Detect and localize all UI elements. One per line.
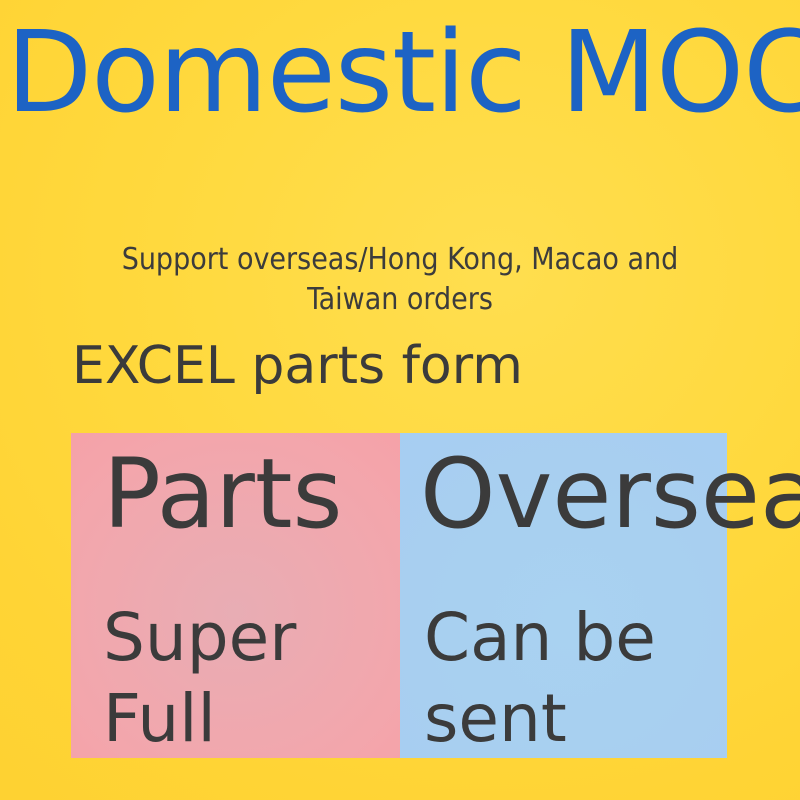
excel-parts-form-label: EXCEL parts form bbox=[72, 337, 523, 397]
panel-parts-title: Parts bbox=[103, 446, 343, 542]
panel-overseas-body-line-2: sent bbox=[424, 679, 656, 760]
panel-overseas-body-line-1: Can be bbox=[424, 598, 656, 679]
panel-parts: Parts Super Full bbox=[71, 433, 400, 758]
panel-parts-body-line-1: Super bbox=[103, 598, 296, 679]
panel-overseas: Overseas Can be sent bbox=[400, 433, 727, 758]
panel-overseas-title: Overseas bbox=[420, 446, 800, 542]
subtitle-line-1: Support overseas/Hong Kong, Macao and bbox=[0, 240, 800, 280]
comparison-panels: Parts Super Full Overseas Can be sent bbox=[71, 433, 727, 758]
subtitle-line-2: Taiwan orders bbox=[0, 280, 800, 320]
panel-overseas-body: Can be sent bbox=[424, 598, 656, 759]
promo-poster: Domestic MOC Support overseas/Hong Kong,… bbox=[0, 0, 800, 800]
subtitle-caption: Support overseas/Hong Kong, Macao and Ta… bbox=[0, 240, 800, 320]
panel-parts-body: Super Full bbox=[103, 598, 296, 759]
page-title: Domestic MOC bbox=[6, 14, 800, 133]
panel-parts-body-line-2: Full bbox=[103, 679, 296, 760]
